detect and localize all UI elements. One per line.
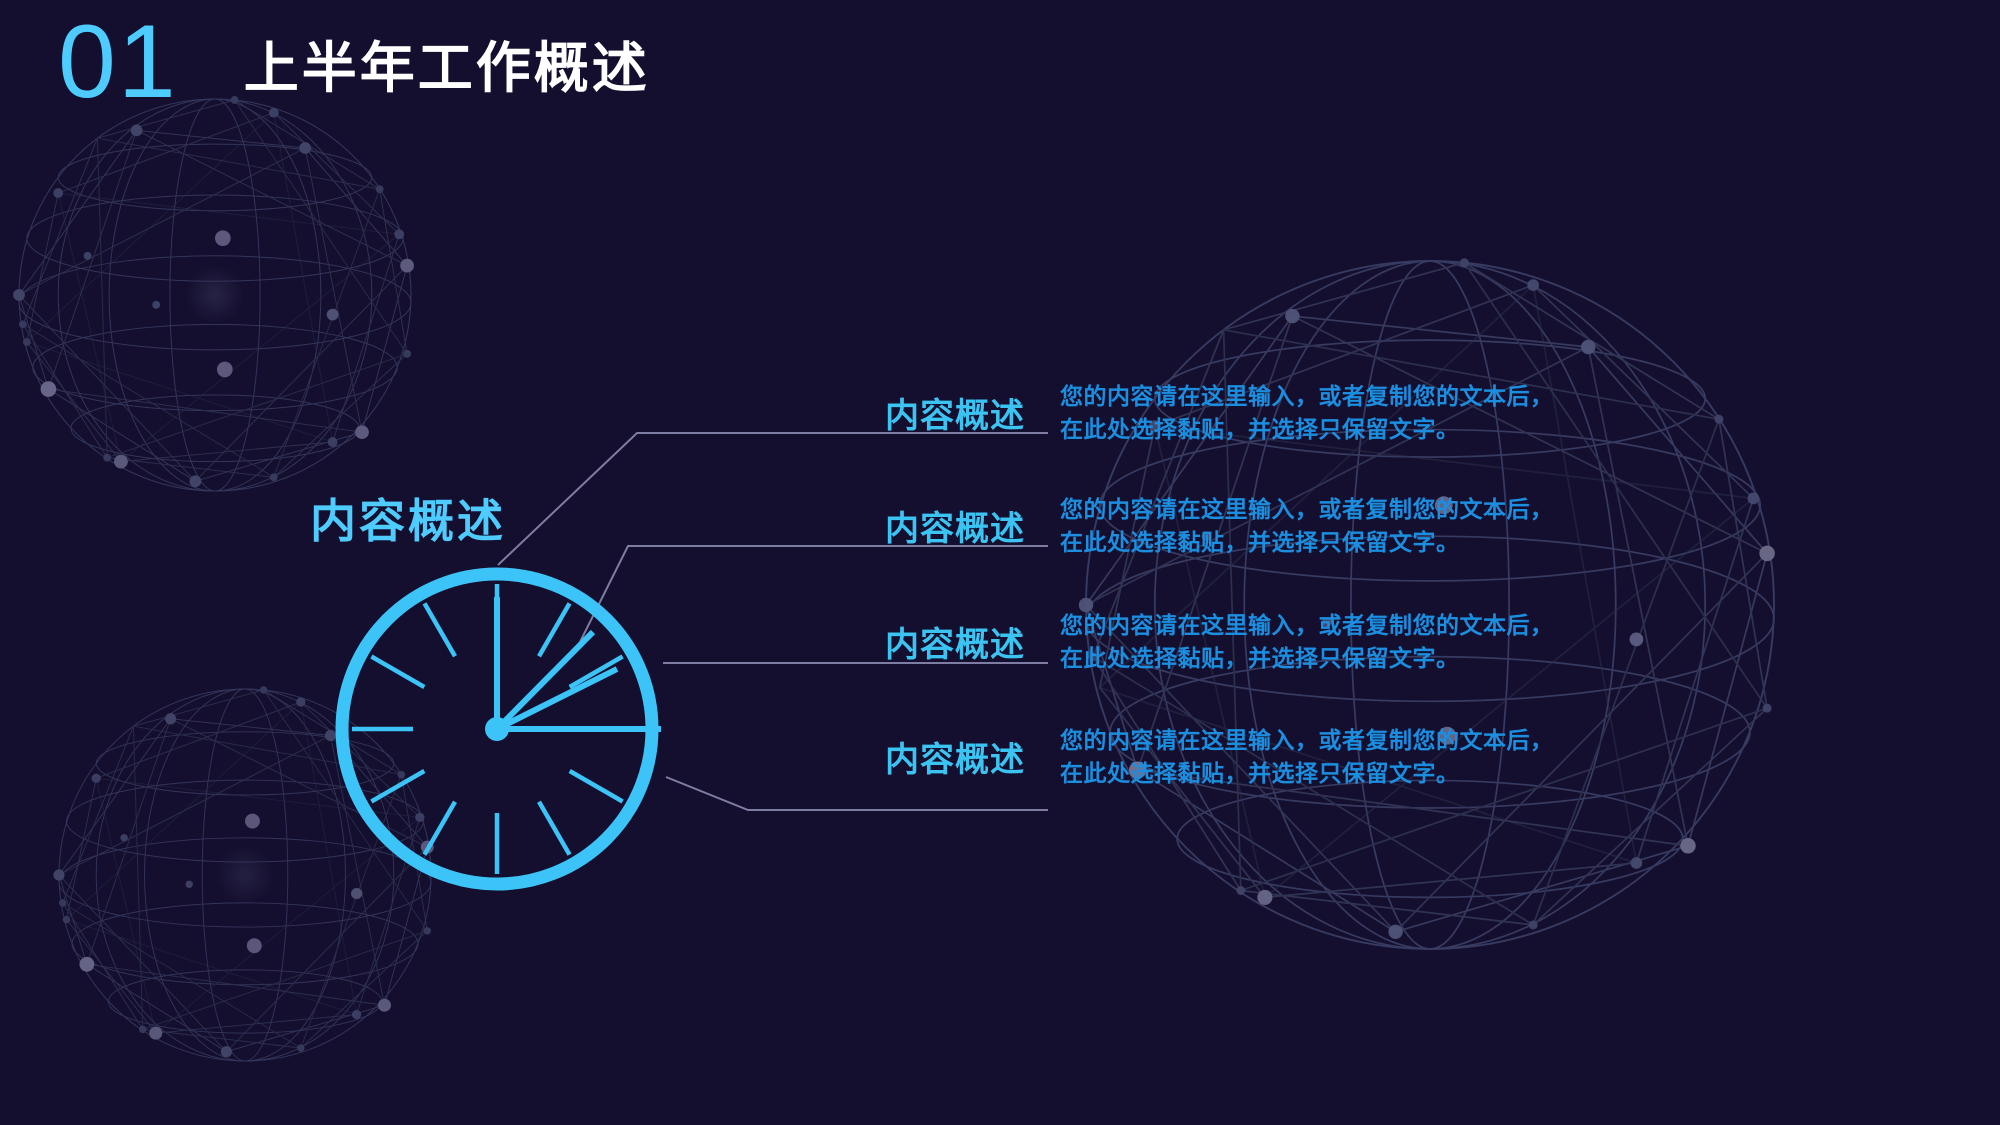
clock-hand-0130 [497, 632, 593, 729]
content-row-line2: 在此处选择黏贴，并选择只保留文字。 [1060, 757, 1554, 790]
content-row-label: 内容概述 [885, 732, 1060, 781]
content-row: 内容概述 您的内容请在这里输入，或者复制您的文本后， 在此处选择黏贴，并选择只保… [885, 493, 1554, 558]
content-row: 内容概述 您的内容请在这里输入，或者复制您的文本后， 在此处选择黏贴，并选择只保… [885, 609, 1554, 674]
page-title: 上半年工作概述 [244, 41, 650, 96]
content-row-line2: 在此处选择黏贴，并选择只保留文字。 [1060, 413, 1554, 446]
sphere-bottom-left [53, 686, 433, 1061]
clock-and-connectors [0, 0, 2000, 1125]
clock-center-dot [485, 717, 509, 741]
content-row-body: 您的内容请在这里输入，或者复制您的文本后， 在此处选择黏贴，并选择只保留文字。 [1060, 380, 1554, 445]
slide-canvas: 01 上半年工作概述 内容概述 内容概述 您的内容请在这里输入，或者复制您的文本… [0, 0, 2000, 1125]
content-row: 内容概述 您的内容请在这里输入，或者复制您的文本后， 在此处选择黏贴，并选择只保… [885, 724, 1554, 789]
content-row-body: 您的内容请在这里输入，或者复制您的文本后， 在此处选择黏贴，并选择只保留文字。 [1060, 493, 1554, 558]
background-decoration [0, 0, 2000, 1125]
sphere-top-left [13, 96, 414, 491]
content-row-label: 内容概述 [885, 501, 1060, 550]
content-row-line1: 您的内容请在这里输入，或者复制您的文本后， [1060, 609, 1554, 642]
content-row-line1: 您的内容请在这里输入，或者复制您的文本后， [1060, 380, 1554, 413]
content-row-line1: 您的内容请在这里输入，或者复制您的文本后， [1060, 724, 1554, 757]
sphere-right [1079, 258, 1775, 949]
clock-icon [342, 574, 661, 884]
content-row: 内容概述 您的内容请在这里输入，或者复制您的文本后， 在此处选择黏贴，并选择只保… [885, 380, 1554, 445]
slide-header: 01 上半年工作概述 [58, 10, 650, 114]
clock-hand-0200 [497, 669, 617, 729]
content-row-body: 您的内容请在这里输入，或者复制您的文本后， 在此处选择黏贴，并选择只保留文字。 [1060, 609, 1554, 674]
content-row-line2: 在此处选择黏贴，并选择只保留文字。 [1060, 642, 1554, 675]
content-row-line2: 在此处选择黏贴，并选择只保留文字。 [1060, 526, 1554, 559]
content-row-label: 内容概述 [885, 617, 1060, 666]
section-number: 01 [58, 10, 178, 114]
center-heading: 内容概述 [310, 485, 506, 551]
content-row-line1: 您的内容请在这里输入，或者复制您的文本后， [1060, 493, 1554, 526]
content-row-body: 您的内容请在这里输入，或者复制您的文本后， 在此处选择黏贴，并选择只保留文字。 [1060, 724, 1554, 789]
content-row-label: 内容概述 [885, 388, 1060, 437]
